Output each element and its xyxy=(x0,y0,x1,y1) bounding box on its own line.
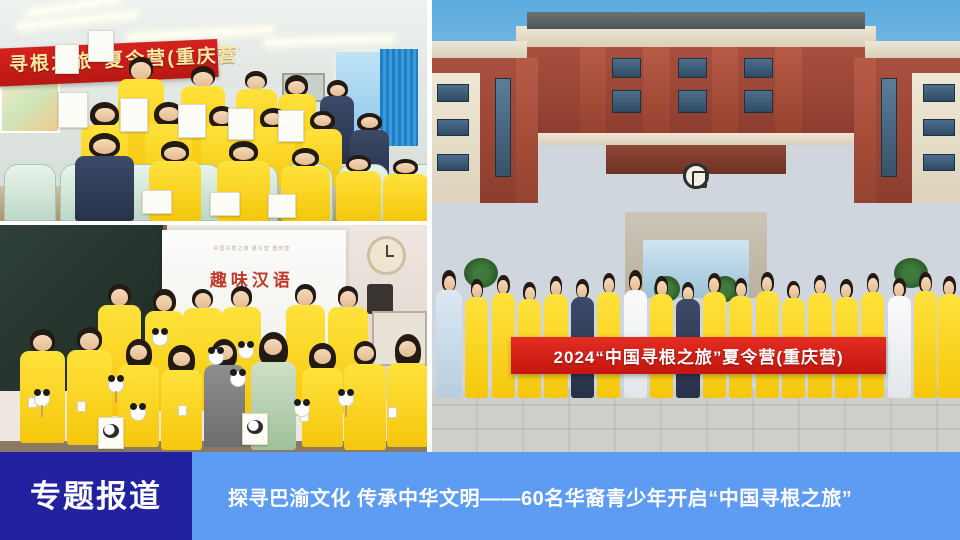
certificate-paper xyxy=(55,44,79,74)
plaza-pavement-joints xyxy=(432,389,960,452)
participant xyxy=(912,272,938,398)
student-front-row xyxy=(380,159,427,221)
caption-headline: 探寻巴渝文化 传承中华文明——60名华裔青少年开启“中国寻根之旅” xyxy=(228,482,852,511)
certificate-paper xyxy=(142,190,172,214)
special-report-tag-label: 专题报道 xyxy=(30,481,162,512)
panda-mask-icon xyxy=(238,343,254,359)
panda-mask-icon xyxy=(230,371,246,387)
student-front-row xyxy=(384,334,427,448)
wall-poster xyxy=(0,80,60,133)
special-report-tag[interactable]: 专题报道 xyxy=(0,452,192,540)
certificate-paper xyxy=(228,108,254,140)
name-badge xyxy=(178,405,187,416)
panda-mask-icon xyxy=(152,330,168,346)
certificate-paper xyxy=(120,98,148,132)
certificate-paper xyxy=(278,110,304,142)
certificate-paper xyxy=(268,194,296,218)
student-front-row xyxy=(17,329,68,443)
mask-stick xyxy=(41,405,43,417)
panda-mask-icon xyxy=(294,401,310,417)
mask-stick xyxy=(345,405,347,417)
red-banner-text: 2024“中国寻根之旅”夏令营(重庆营) xyxy=(511,337,886,374)
mask-stick xyxy=(115,391,117,403)
participant xyxy=(596,273,622,397)
student-front-row xyxy=(158,345,205,449)
projection-subtitle: 中国寻根之旅 夏令营 重庆营 xyxy=(196,245,307,252)
certificate-paper xyxy=(210,192,240,216)
school-emblem-icon xyxy=(683,163,709,189)
participant xyxy=(860,273,886,397)
panda-mask-icon xyxy=(208,349,224,365)
participant xyxy=(464,279,490,398)
certificate-paper xyxy=(178,104,206,138)
school-group-photo[interactable]: 2024“中国寻根之旅”夏令营(重庆营) xyxy=(432,0,960,452)
panda-painting xyxy=(242,413,268,445)
certificate-paper xyxy=(58,92,88,128)
photo-collage: 寻根之旅”夏令营(重庆营) xyxy=(0,0,960,452)
panda-painting xyxy=(98,417,124,449)
wall-clock xyxy=(367,236,405,275)
name-badge xyxy=(388,407,397,418)
camp-participants-crowd xyxy=(432,253,960,398)
certificate-paper xyxy=(88,30,114,62)
teacher-seated xyxy=(73,133,137,221)
name-badge xyxy=(77,401,86,412)
page-root: 寻根之旅”夏令营(重庆营) xyxy=(0,0,960,540)
participant xyxy=(701,273,727,397)
student-front-row xyxy=(333,155,384,221)
panda-mask-photo[interactable]: 中国寻根之旅 夏令营 重庆营 趣味汉语 xyxy=(0,225,427,452)
participant xyxy=(622,270,648,397)
participant xyxy=(754,272,780,398)
participant xyxy=(435,270,464,397)
caption-bar: 专题报道 探寻巴渝文化 传承中华文明——60名华裔青少年开启“中国寻根之旅” xyxy=(0,452,960,540)
panda-mask-icon xyxy=(130,405,146,421)
caption-headline-container: 探寻巴渝文化 传承中华文明——60名华裔青少年开启“中国寻根之旅” xyxy=(192,452,960,540)
participant xyxy=(886,278,912,398)
participant xyxy=(936,276,960,397)
classroom-certificate-photo[interactable]: 寻根之旅”夏令营(重庆营) xyxy=(0,0,427,221)
